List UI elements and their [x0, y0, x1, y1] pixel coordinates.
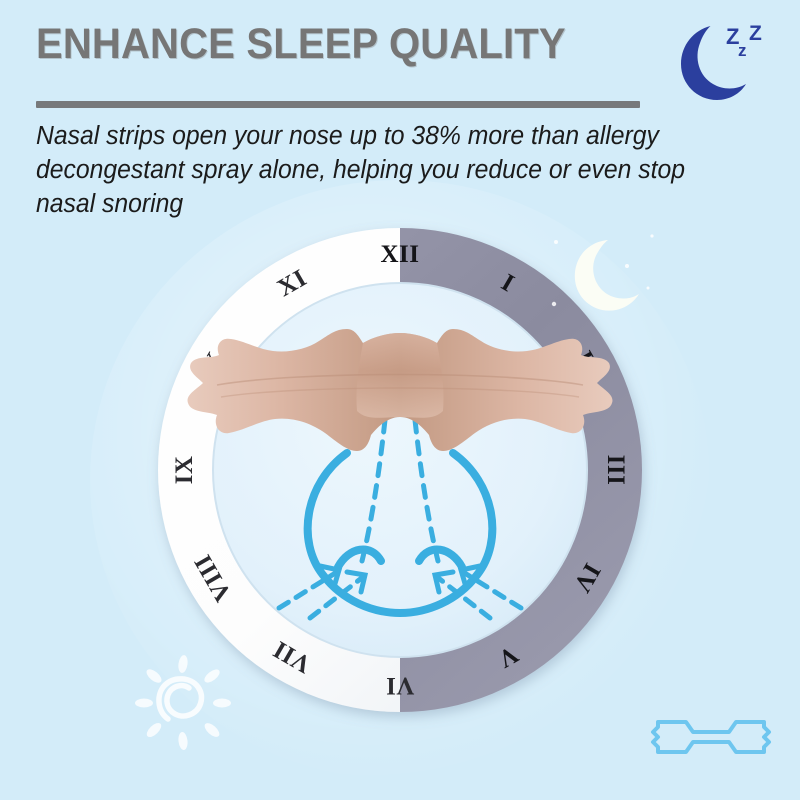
body-copy: Nasal strips open your nose up to 38% mo… [36, 120, 688, 222]
zzz-icon: Z z Z [726, 22, 762, 60]
clock-numeral-9: IX [171, 456, 198, 485]
page-title: ENHANCE SLEEP QUALITY [36, 23, 566, 66]
night-decoration [548, 228, 668, 338]
title-divider [36, 101, 640, 108]
poster-canvas: ENHANCE SLEEP QUALITY Nasal strips open … [0, 0, 800, 800]
nasal-strip-outline-icon [653, 722, 769, 752]
sun-rays [135, 654, 231, 750]
nasal-strip-outline-decoration [648, 708, 774, 766]
clock-numeral-6: VI [386, 672, 415, 699]
clock-numeral-12: XII [380, 241, 419, 268]
sleep-badge: Z z Z [666, 14, 774, 106]
sun-decoration [128, 648, 238, 752]
svg-text:Z: Z [749, 22, 762, 45]
svg-text:z: z [738, 41, 747, 60]
clock-numeral-3: III [602, 455, 629, 486]
sun-spiral-icon [159, 679, 202, 719]
crescent-moon-icon [575, 240, 639, 311]
